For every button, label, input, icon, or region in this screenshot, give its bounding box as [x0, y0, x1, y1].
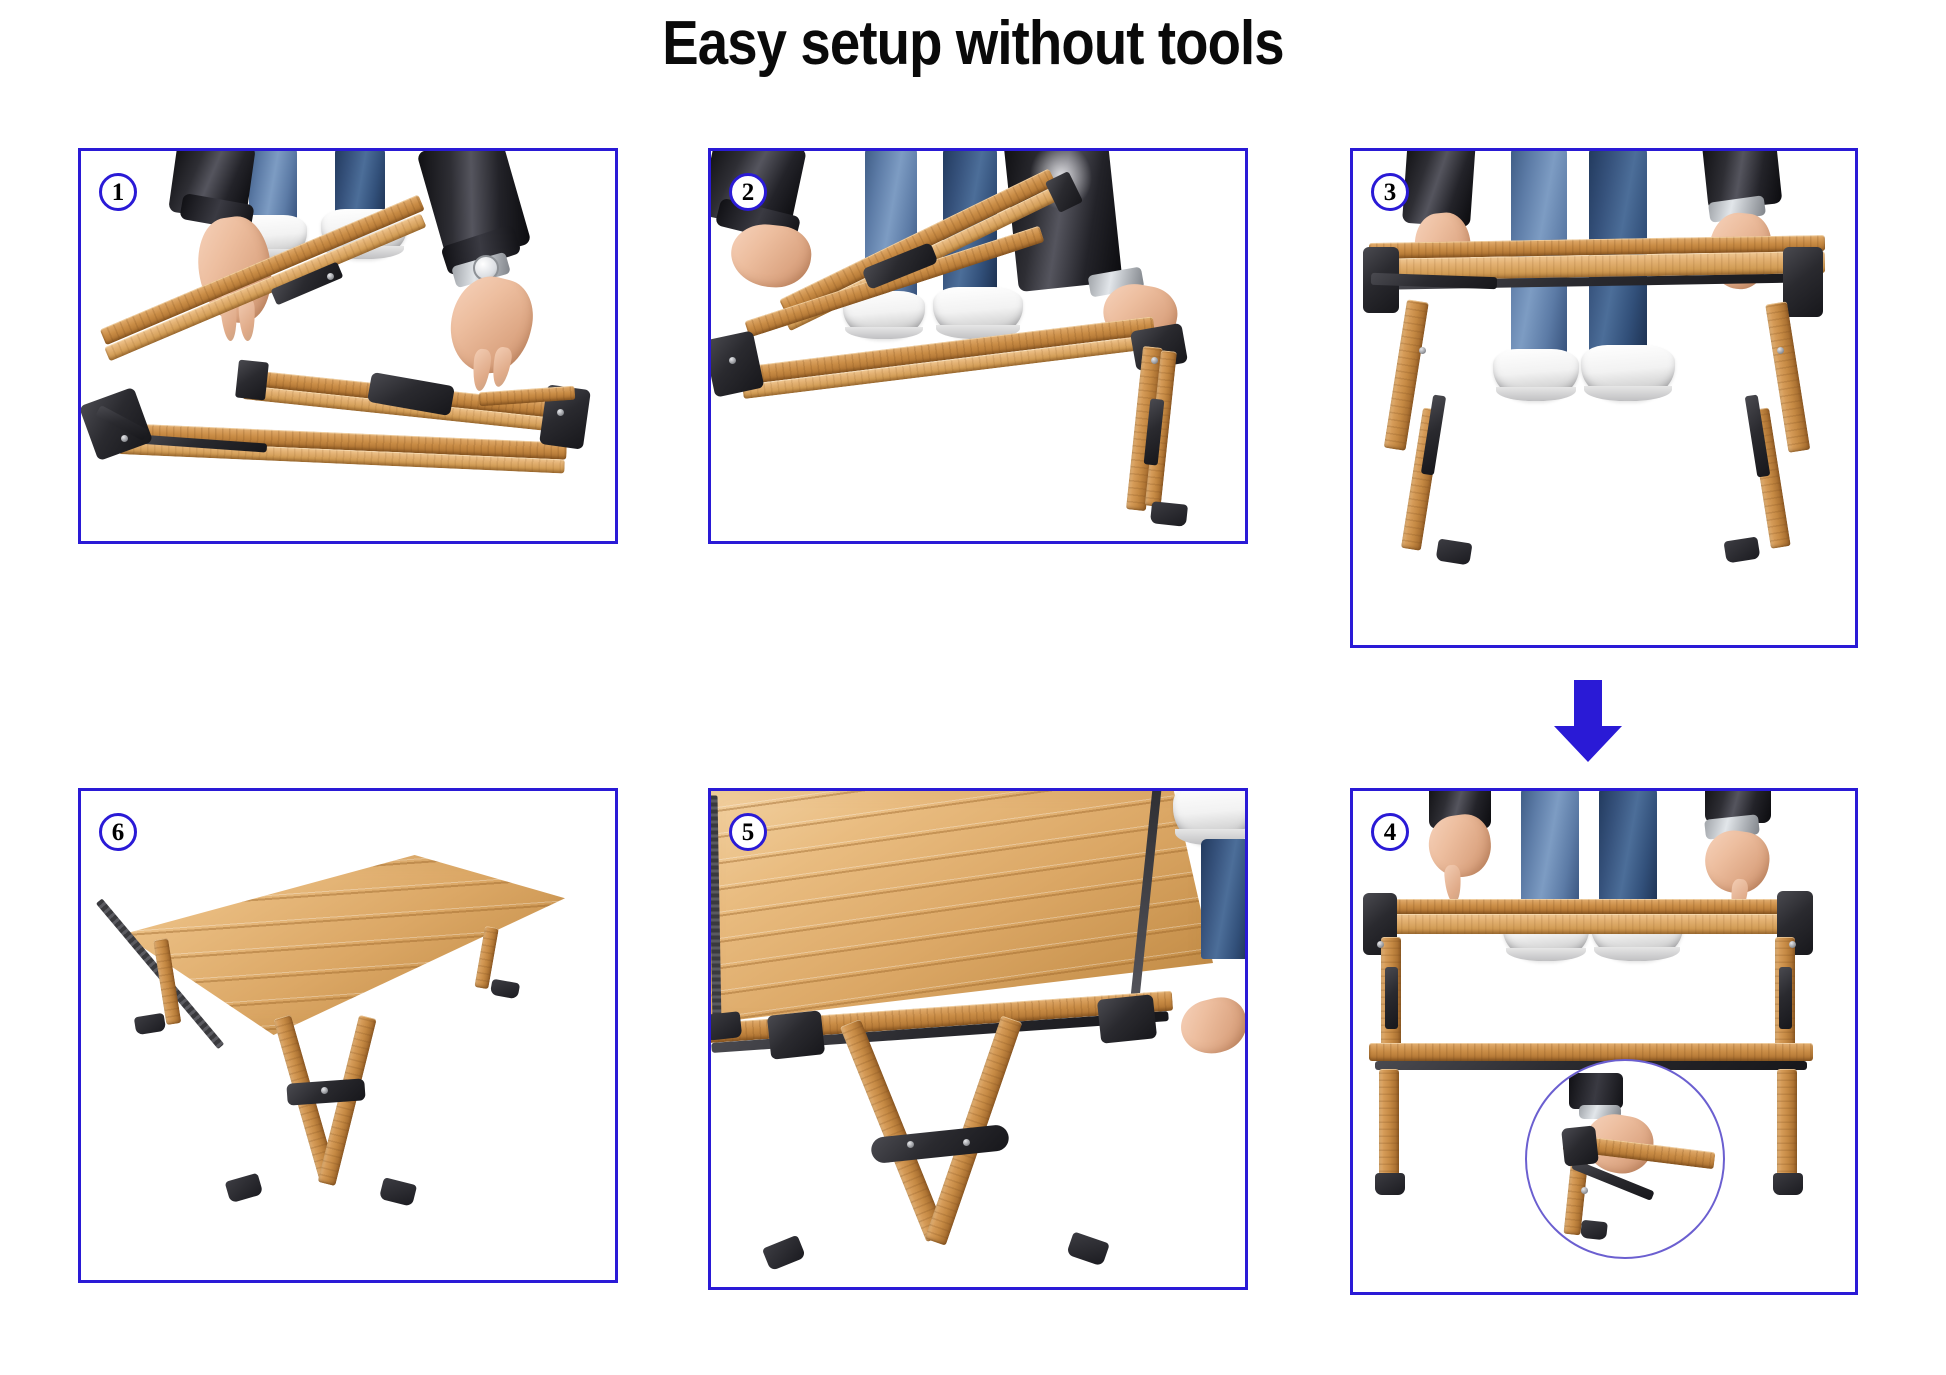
step-badge-1: 1 — [99, 173, 137, 211]
rivet-right-bracket — [1789, 941, 1796, 948]
top-rail-back — [1371, 899, 1811, 914]
foot-far-right — [490, 979, 520, 1000]
down-arrow-icon — [1548, 680, 1628, 762]
rivet-right-leg — [1777, 347, 1784, 354]
cross-brace-rivet-2 — [963, 1139, 970, 1146]
foot-right — [1773, 1173, 1803, 1195]
cross-brace-rivet — [321, 1087, 328, 1094]
leg-right — [1201, 839, 1245, 959]
leg-left-lower — [1379, 1069, 1399, 1179]
hinge-left — [767, 1010, 825, 1059]
rivet-right — [1151, 357, 1158, 364]
step-panel-6: 6 — [78, 788, 618, 1283]
step-6-illustration — [81, 791, 615, 1280]
leg-left-foot — [1435, 538, 1472, 565]
shoe-right — [1173, 791, 1245, 845]
leg-right-foot — [1723, 536, 1760, 563]
hinge-right — [1097, 994, 1157, 1044]
step-badge-3: 3 — [1371, 173, 1409, 211]
rivet-left-leg — [1419, 347, 1426, 354]
rivet-left-bracket — [1377, 941, 1384, 948]
step-1-illustration — [81, 151, 615, 541]
rivet-right — [557, 409, 564, 416]
index-finger-left — [1444, 864, 1463, 903]
rivet-left — [729, 357, 736, 364]
step-panel-3: 3 — [1350, 148, 1858, 648]
cross-brace-rivet-1 — [907, 1141, 914, 1148]
step-panel-2: 2 — [708, 148, 1248, 544]
step-badge-2: 2 — [729, 173, 767, 211]
finger-right-1 — [471, 348, 492, 392]
step-badge-6: 6 — [99, 813, 137, 851]
latch-detail-inset — [1525, 1059, 1725, 1259]
leg-foot — [1150, 501, 1188, 527]
foot-far — [134, 1013, 166, 1035]
inset-foot — [1580, 1220, 1608, 1241]
step-2-illustration — [711, 151, 1245, 541]
corner-bracket-right — [1783, 247, 1823, 317]
inset-rivet — [1581, 1187, 1588, 1194]
hand-right — [1175, 992, 1245, 1060]
foot-left — [1375, 1173, 1405, 1195]
step-5-illustration — [711, 791, 1245, 1287]
shoe-right — [1581, 345, 1675, 401]
rivet-upper — [327, 273, 334, 280]
step-panel-1: 1 — [78, 148, 618, 544]
rivet-left — [121, 435, 128, 442]
hand-left — [728, 221, 814, 291]
foot-front-b — [379, 1177, 417, 1207]
foot-x-b — [1066, 1231, 1110, 1266]
rail-end-cap-left — [711, 1011, 742, 1041]
leg-left-lock-bar — [1385, 967, 1398, 1029]
inset-hinge — [1561, 1125, 1599, 1166]
top-rail-front — [1373, 914, 1811, 934]
foot-front-a — [225, 1173, 264, 1204]
hinge-left-cluster — [711, 330, 764, 397]
leg-right-lock-bar — [1779, 967, 1792, 1029]
shoe-left — [1493, 349, 1579, 401]
foot-x-a — [762, 1235, 806, 1271]
lower-rail — [1369, 1043, 1813, 1061]
page-title: Easy setup without tools — [117, 8, 1829, 79]
step-panel-4: 4 — [1350, 788, 1858, 1295]
step-badge-4: 4 — [1371, 813, 1409, 851]
step-4-illustration — [1353, 791, 1855, 1292]
inset-cuff — [1569, 1073, 1623, 1109]
step-badge-5: 5 — [729, 813, 767, 851]
end-cap-mid — [235, 360, 269, 401]
step-panel-5: 5 — [708, 788, 1248, 1290]
shoe-right — [933, 287, 1023, 339]
step-3-illustration — [1353, 151, 1855, 645]
leg-right-lower — [1777, 1069, 1797, 1179]
hand-right — [441, 269, 542, 382]
leg-x-a — [840, 1019, 947, 1242]
